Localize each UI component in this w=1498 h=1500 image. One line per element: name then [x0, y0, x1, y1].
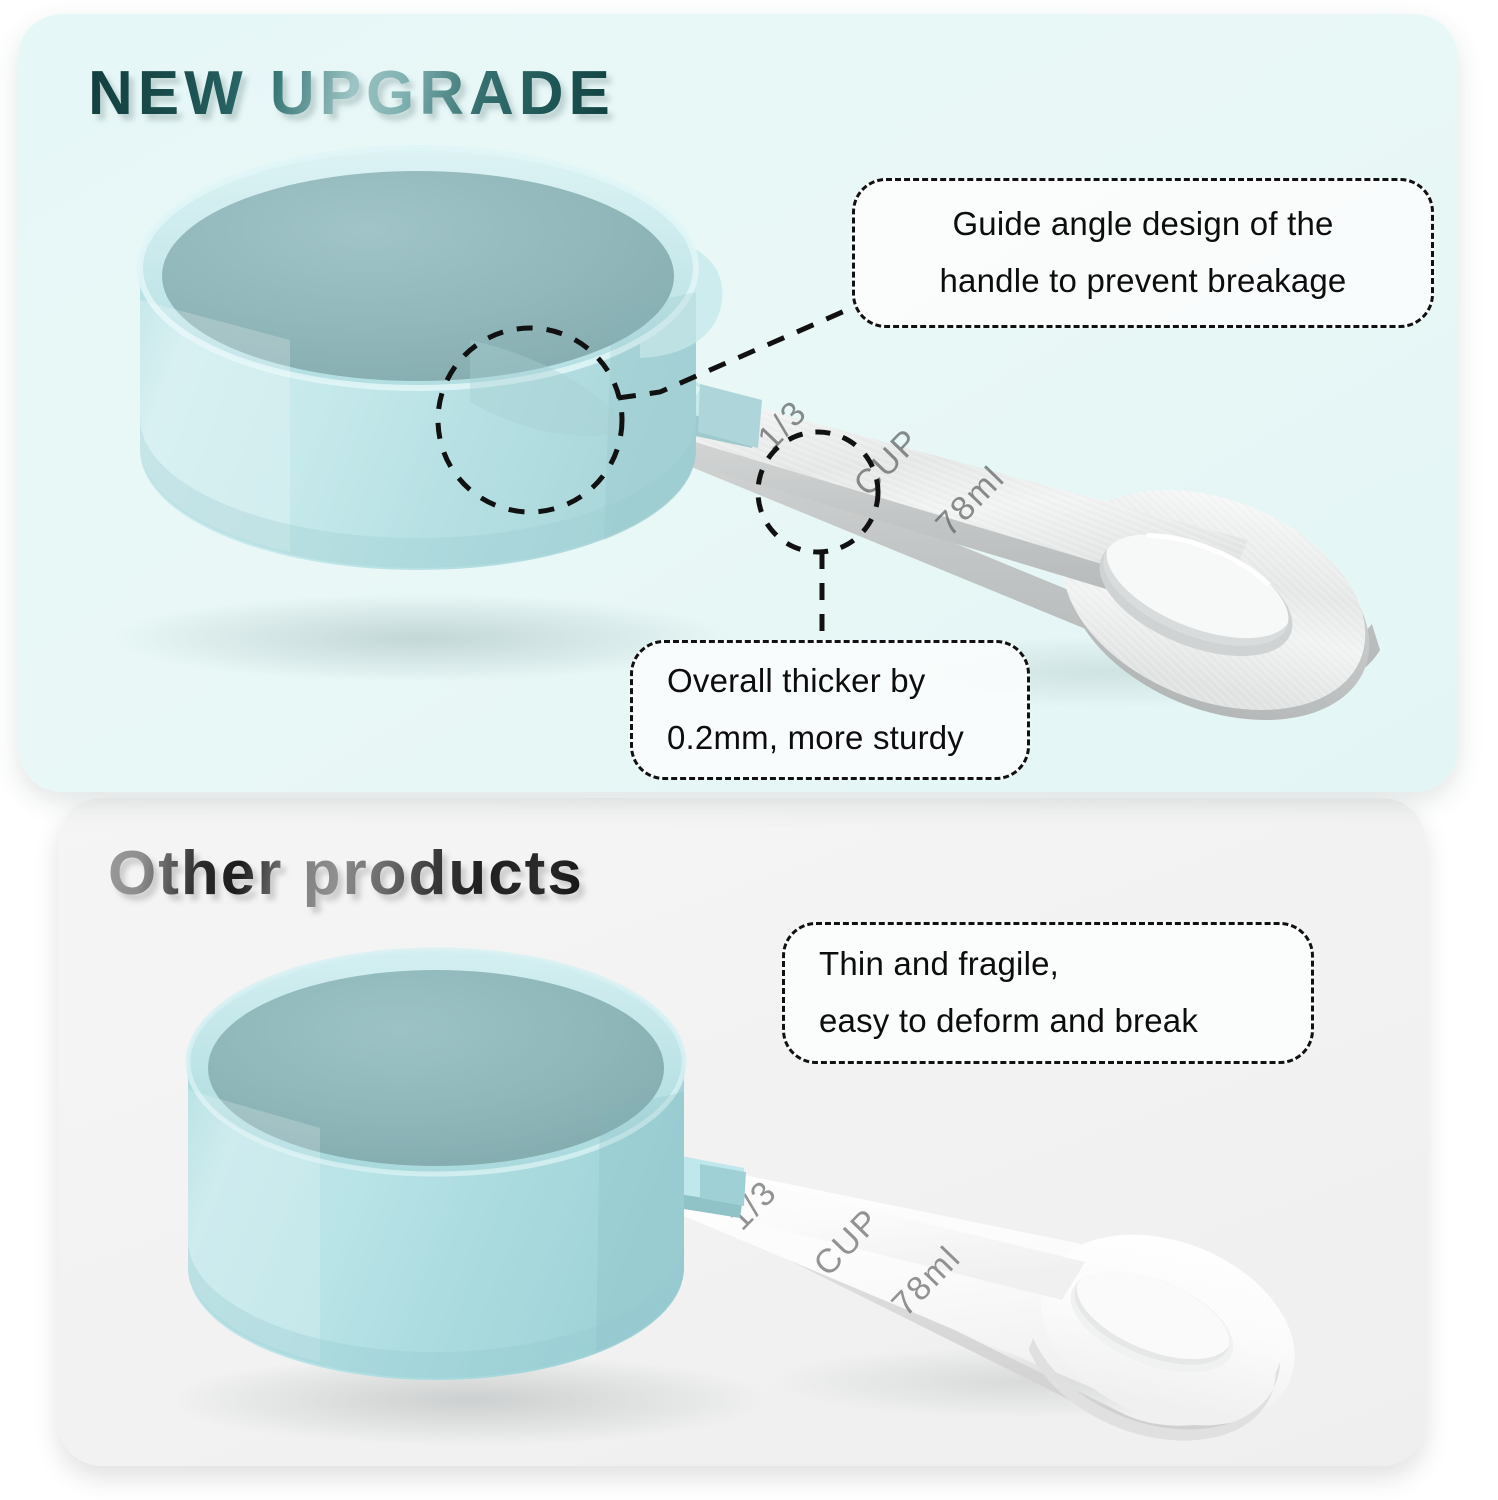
- callout-fragile-line-1: Thin and fragile,: [819, 936, 1277, 993]
- callout-guide-angle-line-1: Guide angle design of the: [952, 196, 1333, 253]
- callout-fragile-line-2: easy to deform and break: [819, 993, 1277, 1050]
- callout-fragile: Thin and fragile, easy to deform and bre…: [782, 922, 1314, 1064]
- upgraded-cup-body: [140, 148, 722, 570]
- callout-thickness-line-1: Overall thicker by: [667, 653, 993, 710]
- callout-guide-angle: Guide angle design of the handle to prev…: [852, 178, 1434, 328]
- page-title-new-upgrade: NEW UPGRADE: [88, 58, 615, 129]
- callout-thickness-line-2: 0.2mm, more sturdy: [667, 710, 993, 767]
- callout-thickness: Overall thicker by 0.2mm, more sturdy: [630, 640, 1030, 780]
- page-title-other-products: Other products: [108, 838, 584, 909]
- infographic-stage: 1/3 CUP 78ml: [0, 0, 1498, 1500]
- callout-guide-angle-line-2: handle to prevent breakage: [939, 253, 1346, 310]
